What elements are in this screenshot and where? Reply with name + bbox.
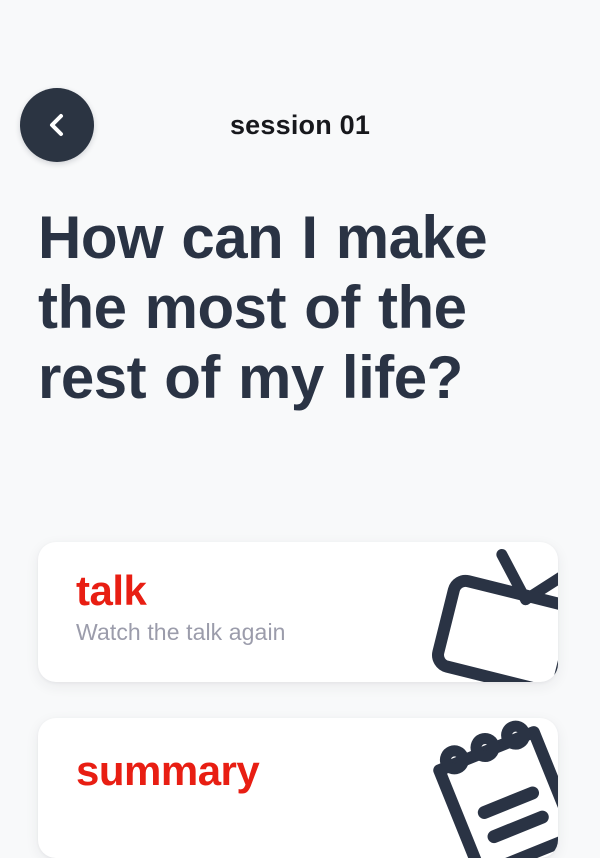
card-summary-title: summary [76, 748, 259, 794]
notepad-icon [418, 718, 558, 858]
tv-icon [422, 542, 558, 682]
card-summary[interactable]: summary [38, 718, 558, 858]
app-header: session 01 [0, 88, 600, 162]
chevron-left-icon [42, 110, 72, 140]
card-talk[interactable]: talk Watch the talk again [38, 542, 558, 682]
card-talk-title: talk [76, 568, 286, 614]
page-title: How can I make the most of the rest of m… [38, 203, 568, 413]
card-summary-text: summary [76, 748, 259, 798]
card-talk-text: talk Watch the talk again [76, 568, 286, 646]
back-button[interactable] [20, 88, 94, 162]
card-talk-subtitle: Watch the talk again [76, 618, 286, 646]
